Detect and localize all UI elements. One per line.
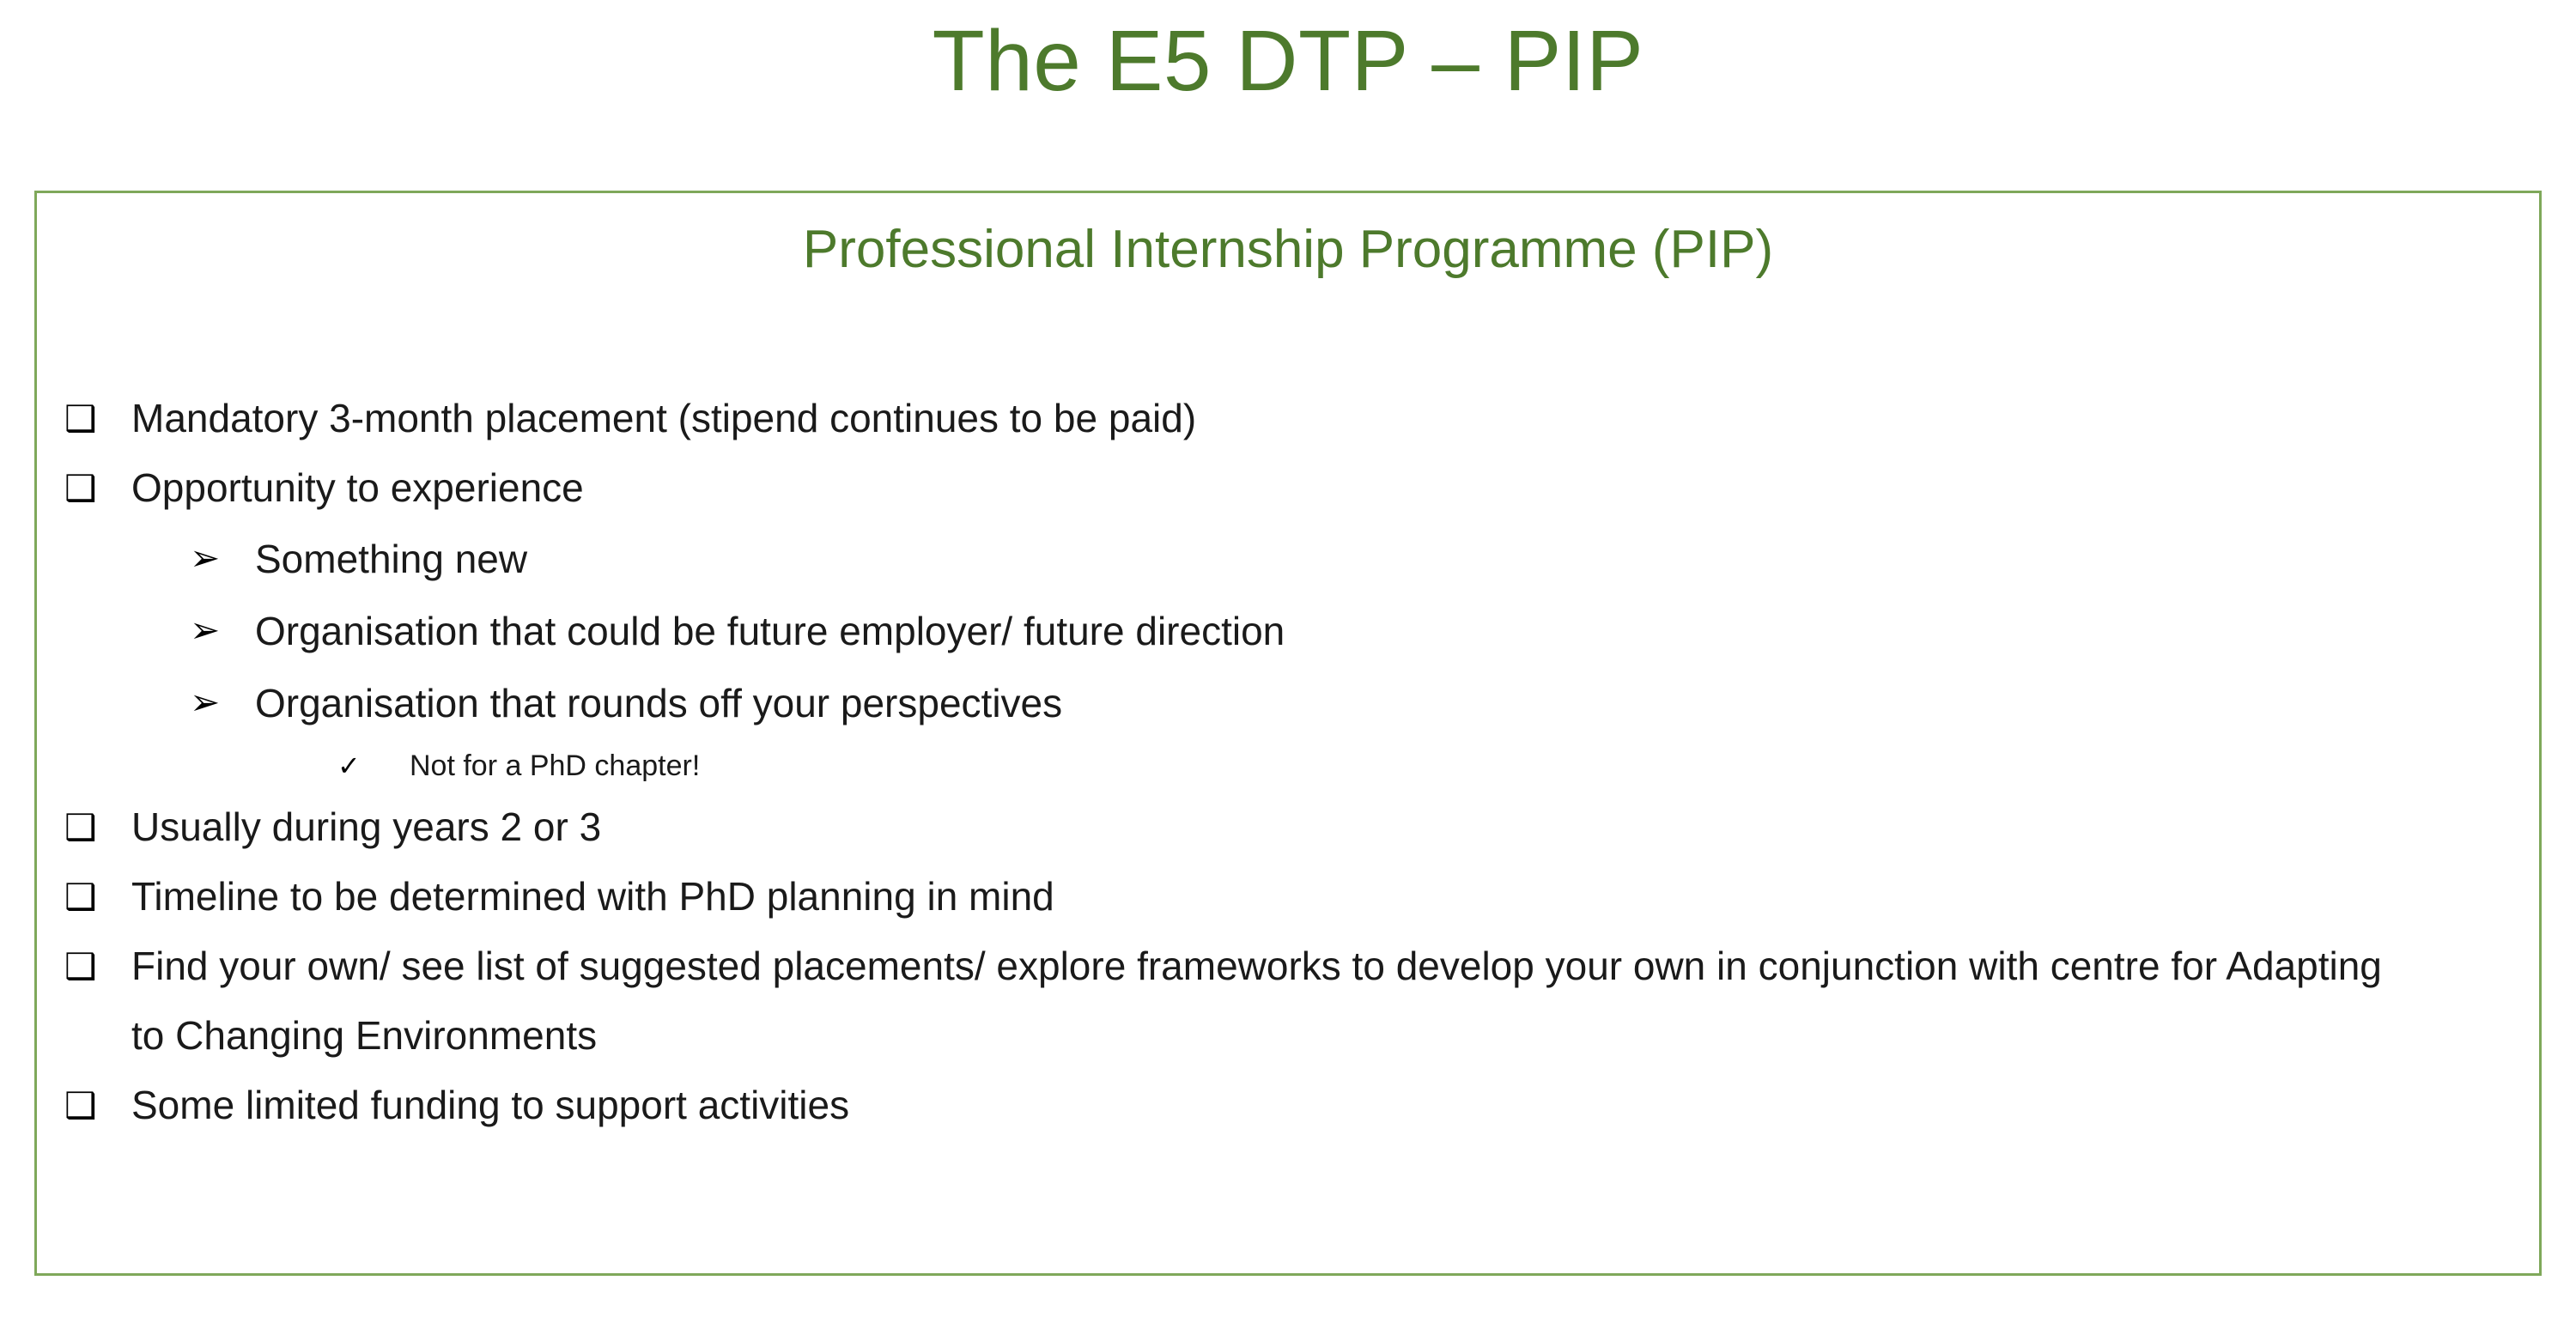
square-bullet-icon: ❑ [64,453,131,523]
square-bullet-icon: ❑ [64,384,131,453]
list-item: ❑ Some limited funding to support activi… [37,1071,2527,1140]
list-item: ❑ Find your own/ see list of suggested p… [37,932,2527,1071]
list-item-label: Find your own/ see list of suggested pla… [131,932,2398,1071]
square-bullet-icon: ❑ [64,862,131,932]
square-bullet-icon: ❑ [64,792,131,862]
list-item-label: Some limited funding to support activiti… [131,1071,2527,1140]
list-item: ➢ Organisation that rounds off your pers… [37,667,2527,739]
arrow-bullet-icon: ➢ [190,667,255,737]
square-bullet-icon: ❑ [64,932,131,1001]
bullet-list: ❑ Mandatory 3-month placement (stipend c… [37,384,2527,1140]
list-item: ➢ Something new [37,523,2527,595]
arrow-bullet-icon: ➢ [190,523,255,592]
check-bullet-icon: ✓ [337,739,410,792]
list-item-label: Organisation that could be future employ… [255,595,2527,667]
list-item-label: Not for a PhD chapter! [410,739,2527,792]
list-item-label: Usually during years 2 or 3 [131,792,2527,862]
list-item-label: Mandatory 3-month placement (stipend con… [131,384,2527,453]
list-item: ❑ Mandatory 3-month placement (stipend c… [37,384,2527,453]
list-item-label: Organisation that rounds off your perspe… [255,667,2527,739]
square-bullet-icon: ❑ [64,1071,131,1140]
list-item: ❑ Opportunity to experience [37,453,2527,523]
list-item: ✓ Not for a PhD chapter! [37,739,2527,792]
section-heading: Professional Internship Programme (PIP) [37,215,2539,284]
content-box: Professional Internship Programme (PIP) … [34,191,2542,1276]
page-title: The E5 DTP – PIP [0,5,2576,117]
list-item: ❑ Usually during years 2 or 3 [37,792,2527,862]
list-item: ➢ Organisation that could be future empl… [37,595,2527,667]
list-item-label: Opportunity to experience [131,453,2527,523]
arrow-bullet-icon: ➢ [190,595,255,665]
list-item: ❑ Timeline to be determined with PhD pla… [37,862,2527,932]
list-item-label: Timeline to be determined with PhD plann… [131,862,2527,932]
list-item-label: Something new [255,523,2527,595]
